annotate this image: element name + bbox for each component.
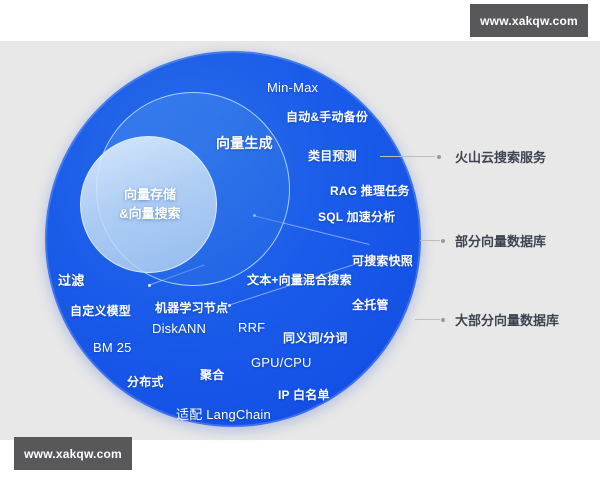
feature-label: Min-Max [267,80,318,95]
diagram-stage: 向量存储 &向量搜索 向量生成 Min-Max自动&手动备份类目预测RAG 推理… [0,0,600,480]
legend-bullet-dot [441,318,445,322]
feature-label: 过滤 [58,270,84,289]
feature-label: RRF [238,320,265,335]
feature-label: DiskANN [152,321,206,336]
legend-leader-line [415,319,440,320]
feature-label: SQL 加速分析 [318,208,395,225]
feature-label: RAG 推理任务 [330,182,410,199]
legend-leader-line [420,240,440,241]
feature-label: 全托管 [352,296,389,313]
inner-circle-label: 向量存储 &向量搜索 [95,185,205,223]
internal-connector-dot [148,284,151,287]
feature-label: 自动&手动备份 [286,108,368,125]
feature-label: 自定义模型 [70,302,131,319]
legend-bullet-dot [437,155,441,159]
watermark-bottom-left: www.xakqw.com [14,437,132,470]
feature-label: 类目预测 [308,147,357,164]
inner-circle-label-line2: &向量搜索 [95,204,205,223]
feature-label: 同义词/分词 [283,329,348,346]
feature-label: 聚合 [200,366,224,383]
internal-connector-dot [228,304,231,307]
feature-label: 适配 LangChain [176,404,271,423]
legend-label: 部分向量数据库 [455,231,546,250]
legend-leader-line [380,156,435,157]
watermark-top-right: www.xakqw.com [470,4,588,37]
legend-label: 大部分向量数据库 [455,310,559,329]
feature-label: 分布式 [127,373,164,390]
feature-label: IP 白名单 [278,386,330,403]
mid-circle-label: 向量生成 [216,133,273,153]
feature-label: 文本+向量混合搜索 [247,271,352,288]
legend-label: 火山云搜索服务 [455,147,546,166]
feature-label: GPU/CPU [251,355,312,370]
legend-bullet-dot [441,239,445,243]
feature-label: 机器学习节点 [155,299,228,316]
feature-label: 可搜索快照 [352,252,413,269]
feature-label: BM 25 [93,340,132,355]
inner-circle-label-line1: 向量存储 [95,185,205,204]
